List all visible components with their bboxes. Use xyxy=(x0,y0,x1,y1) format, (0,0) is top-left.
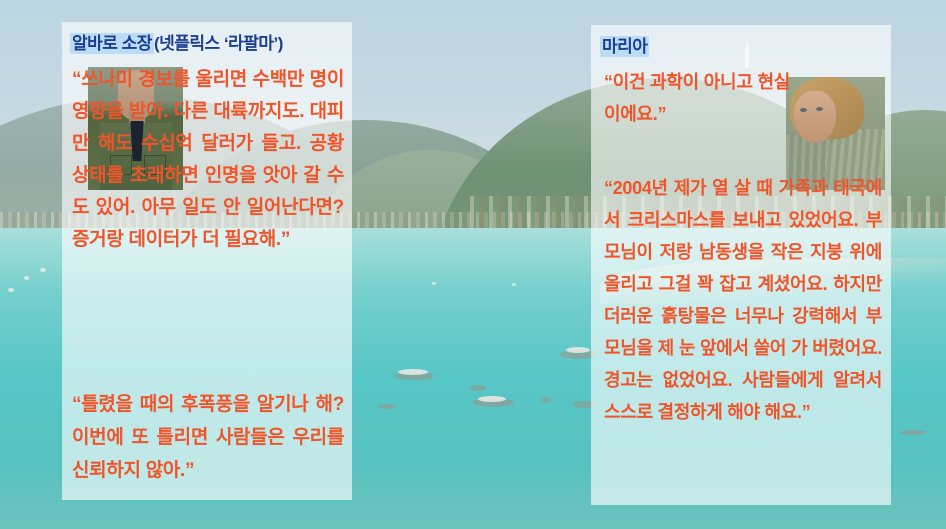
boat xyxy=(40,268,46,272)
boat xyxy=(398,369,428,375)
boat xyxy=(541,397,551,403)
speaker-name-left: 알바로 소장 xyxy=(70,33,154,54)
portrait-eye-left xyxy=(800,108,807,112)
quote-left-paragraph-1: “쓰나미 경보를 울리면 수백만 명이 영향을 받아. 다른 대륙까지도. 대피… xyxy=(72,64,344,256)
quote-left-paragraph-2: “틀렸을 때의 후폭풍을 알기나 해? 이번에 또 틀리면 사람들은 우리를 신… xyxy=(72,388,344,487)
quote-right-paragraph-1: “이건 과학이 아니고 현실이에요.” xyxy=(604,66,790,130)
speaker-label-right: 마리아 xyxy=(600,32,649,57)
boat xyxy=(900,430,926,435)
boat xyxy=(8,288,14,292)
quote-right-paragraph-2: “2004년 제가 열 살 때 가족과 태국에서 크리스마스를 보내고 있었어요… xyxy=(604,172,882,428)
boat xyxy=(432,282,436,285)
portrait-face xyxy=(794,91,836,143)
portrait-eye-right xyxy=(816,107,823,111)
boat xyxy=(24,276,29,280)
boat xyxy=(566,347,590,353)
boat xyxy=(378,404,396,409)
speaker-name-right: 마리아 xyxy=(600,36,649,57)
boat xyxy=(470,385,486,391)
speaker-label-left: 알바로 소장(넷플릭스 ‘라팔마’) xyxy=(70,29,283,54)
screenshot-stage: 알바로 소장(넷플릭스 ‘라팔마’) “쓰나미 경보를 울리면 수백만 명이 영… xyxy=(0,0,946,529)
boat xyxy=(512,283,516,286)
boat xyxy=(478,396,506,402)
speaker-note-left: (넷플릭스 ‘라팔마’) xyxy=(154,34,283,53)
